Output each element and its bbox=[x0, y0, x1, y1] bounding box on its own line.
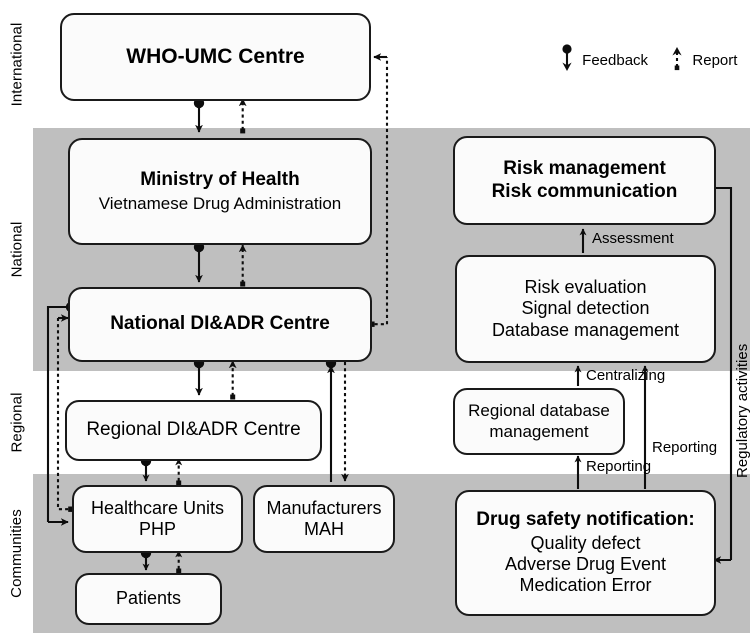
node-manufacturers[interactable]: Manufacturers MAH bbox=[253, 485, 395, 553]
edge-manufacturers-to-national-report-solid bbox=[326, 358, 336, 482]
node-drug-safety-notification-line-2: Adverse Drug Event bbox=[505, 554, 666, 575]
tier-label-communities-text: Communities bbox=[8, 509, 25, 598]
node-drug-safety-notification[interactable]: Drug safety notification: Quality defect… bbox=[455, 490, 716, 616]
node-ministry-of-health-line-0: Ministry of Health bbox=[140, 169, 299, 191]
edge-who-to-moh-feedback bbox=[194, 98, 204, 132]
node-risk-evaluation-line-1: Signal detection bbox=[521, 298, 649, 319]
node-healthcare-units-line-1: PHP bbox=[139, 519, 176, 540]
node-manufacturers-line-1: MAH bbox=[304, 519, 344, 540]
node-risk-evaluation-line-2: Database management bbox=[492, 320, 679, 341]
node-regional-di-adr-centre[interactable]: Regional DI&ADR Centre bbox=[65, 400, 322, 461]
node-regional-database-management[interactable]: Regional database management bbox=[453, 388, 625, 455]
feedback-icon bbox=[560, 44, 574, 74]
node-ministry-of-health-line-1: Vietnamese Drug Administration bbox=[99, 194, 342, 214]
diagram-canvas: International National Regional Communit… bbox=[0, 0, 750, 633]
edge-label-reporting-risk-eval: Reporting bbox=[652, 440, 717, 455]
tier-label-regional-text: Regional bbox=[8, 392, 25, 452]
edge-label-reporting-regional-db: Reporting bbox=[586, 459, 651, 474]
node-healthcare-units[interactable]: Healthcare Units PHP bbox=[72, 485, 243, 553]
node-risk-evaluation[interactable]: Risk evaluation Signal detection Databas… bbox=[455, 255, 716, 363]
node-patients[interactable]: Patients bbox=[75, 573, 222, 625]
report-icon bbox=[670, 44, 684, 74]
tier-label-national: National bbox=[0, 128, 33, 371]
tier-label-national-text: National bbox=[8, 222, 25, 278]
node-risk-management-line-0: Risk management bbox=[503, 158, 666, 180]
edge-label-centralizing: Centralizing bbox=[586, 368, 665, 383]
node-drug-safety-notification-line-3: Medication Error bbox=[519, 575, 651, 596]
node-national-di-adr-centre[interactable]: National DI&ADR Centre bbox=[68, 287, 372, 362]
node-drug-safety-notification-line-0: Drug safety notification: bbox=[476, 509, 695, 531]
node-national-di-adr-centre-line-0: National DI&ADR Centre bbox=[110, 313, 330, 335]
tier-label-communities: Communities bbox=[0, 474, 33, 633]
tier-label-regional: Regional bbox=[0, 371, 33, 474]
node-ministry-of-health[interactable]: Ministry of Health Vietnamese Drug Admin… bbox=[68, 138, 372, 245]
node-who-umc-centre-line-0: WHO-UMC Centre bbox=[126, 45, 305, 70]
node-risk-management[interactable]: Risk management Risk communication bbox=[453, 136, 716, 225]
legend-feedback-label: Feedback bbox=[582, 52, 648, 69]
node-who-umc-centre[interactable]: WHO-UMC Centre bbox=[60, 13, 371, 101]
edge-label-regulatory-activities: Regulatory activities bbox=[735, 344, 750, 478]
node-manufacturers-line-0: Manufacturers bbox=[266, 498, 381, 519]
node-healthcare-units-line-0: Healthcare Units bbox=[91, 498, 224, 519]
tier-label-international-text: International bbox=[8, 22, 25, 106]
tier-label-international: International bbox=[0, 0, 33, 128]
edge-label-assessment: Assessment bbox=[592, 231, 674, 246]
legend: Feedback Report bbox=[560, 44, 737, 74]
node-drug-safety-notification-line-1: Quality defect bbox=[530, 533, 640, 554]
node-regional-database-management-line-0: Regional database bbox=[468, 401, 610, 421]
node-regional-database-management-line-1: management bbox=[489, 422, 588, 442]
node-regional-di-adr-centre-line-0: Regional DI&ADR Centre bbox=[86, 419, 300, 441]
node-risk-management-line-1: Risk communication bbox=[492, 181, 678, 203]
node-risk-evaluation-line-0: Risk evaluation bbox=[524, 277, 646, 298]
node-patients-line-0: Patients bbox=[116, 588, 181, 609]
legend-report-label: Report bbox=[692, 52, 737, 69]
